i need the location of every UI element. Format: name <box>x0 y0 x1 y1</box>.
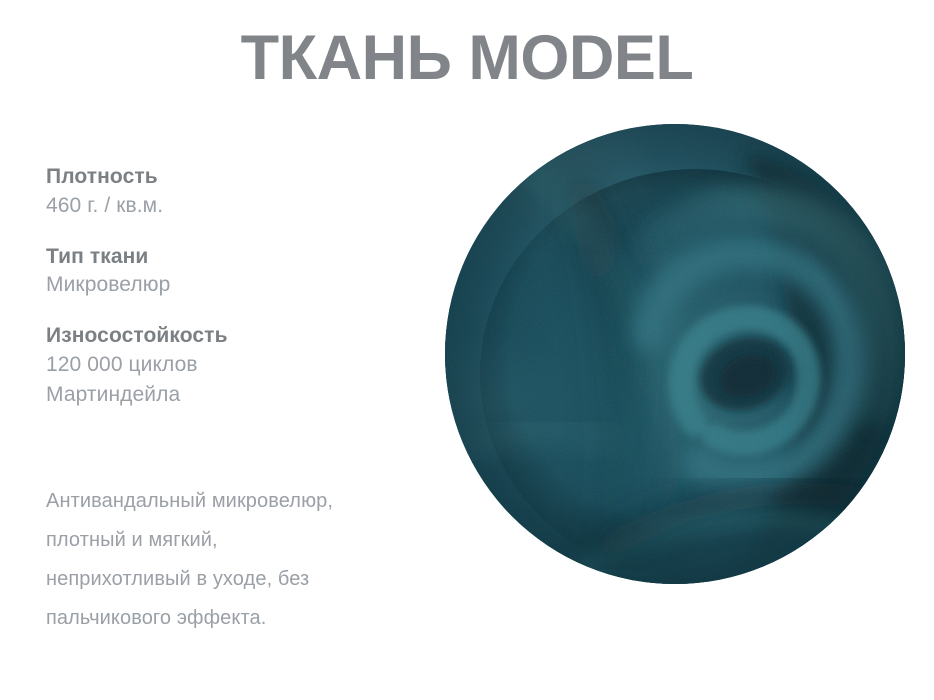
spec-label-durability: Износостойкость <box>46 322 426 350</box>
fabric-photo <box>445 124 905 584</box>
fabric-spec-slide: ТКАНЬ MODEL Плотность 460 г. / кв.м. Тип… <box>0 0 934 700</box>
spec-item-density: Плотность 460 г. / кв.м. <box>46 163 426 221</box>
spec-label-density: Плотность <box>46 163 426 191</box>
spec-value-durability-line-2: Мартиндейла <box>46 380 426 410</box>
description-line-3: неприхотливый в уходе, без <box>46 560 446 599</box>
spec-value-density: 460 г. / кв.м. <box>46 191 426 221</box>
fabric-texture-illustration <box>445 124 905 584</box>
description-line-4: пальчикового эффекта. <box>46 599 446 638</box>
description-paragraph: Антивандальный микровелюр, плотный и мяг… <box>46 482 446 638</box>
description-line-1: Антивандальный микровелюр, <box>46 482 446 521</box>
spec-list: Плотность 460 г. / кв.м. Тип ткани Микро… <box>46 163 426 409</box>
spec-item-durability: Износостойкость 120 000 циклов Мартиндей… <box>46 322 426 409</box>
spec-value-durability-line-1: 120 000 циклов <box>46 350 426 380</box>
spec-label-fabric-type: Тип ткани <box>46 243 426 271</box>
spec-value-fabric-type: Микровелюр <box>46 270 426 300</box>
page-title: ТКАНЬ MODEL <box>0 24 934 92</box>
spec-item-fabric-type: Тип ткани Микровелюр <box>46 243 426 301</box>
description-line-2: плотный и мягкий, <box>46 521 446 560</box>
